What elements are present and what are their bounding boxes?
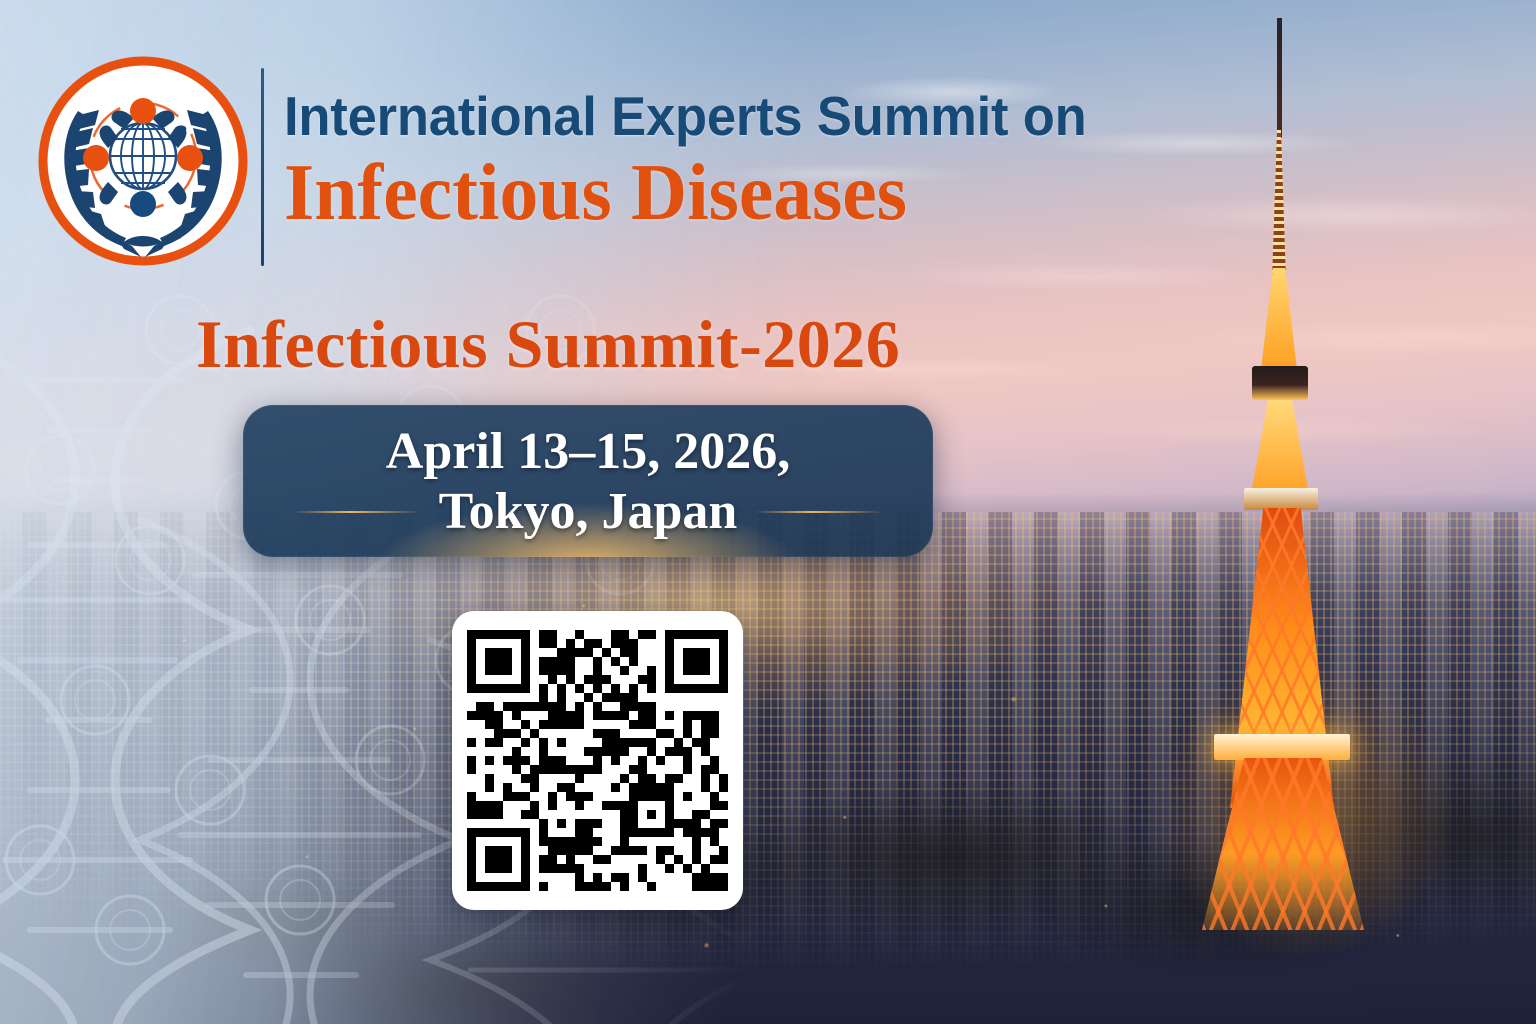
badge-rule-left [293, 511, 421, 513]
header-divider [261, 68, 264, 266]
page-title-line2: Infectious Diseases [284, 150, 1254, 236]
badge-rule-right [755, 511, 883, 513]
conference-banner: International Experts Summit on Infectio… [0, 0, 1536, 1024]
globe-laurel-emblem-icon [38, 56, 248, 266]
qr-code-icon[interactable] [467, 630, 728, 891]
organization-logo [38, 56, 248, 266]
event-subtitle: Infectious Summit-2026 [196, 306, 900, 382]
event-date: April 13–15, 2026, [243, 423, 933, 481]
banner-heading-block: International Experts Summit on Infectio… [284, 86, 1284, 236]
date-location-badge: April 13–15, 2026, Tokyo, Japan [243, 405, 933, 557]
event-location: Tokyo, Japan [439, 483, 738, 541]
page-title-line1: International Experts Summit on [284, 86, 1239, 146]
qr-code-card[interactable] [452, 611, 743, 910]
